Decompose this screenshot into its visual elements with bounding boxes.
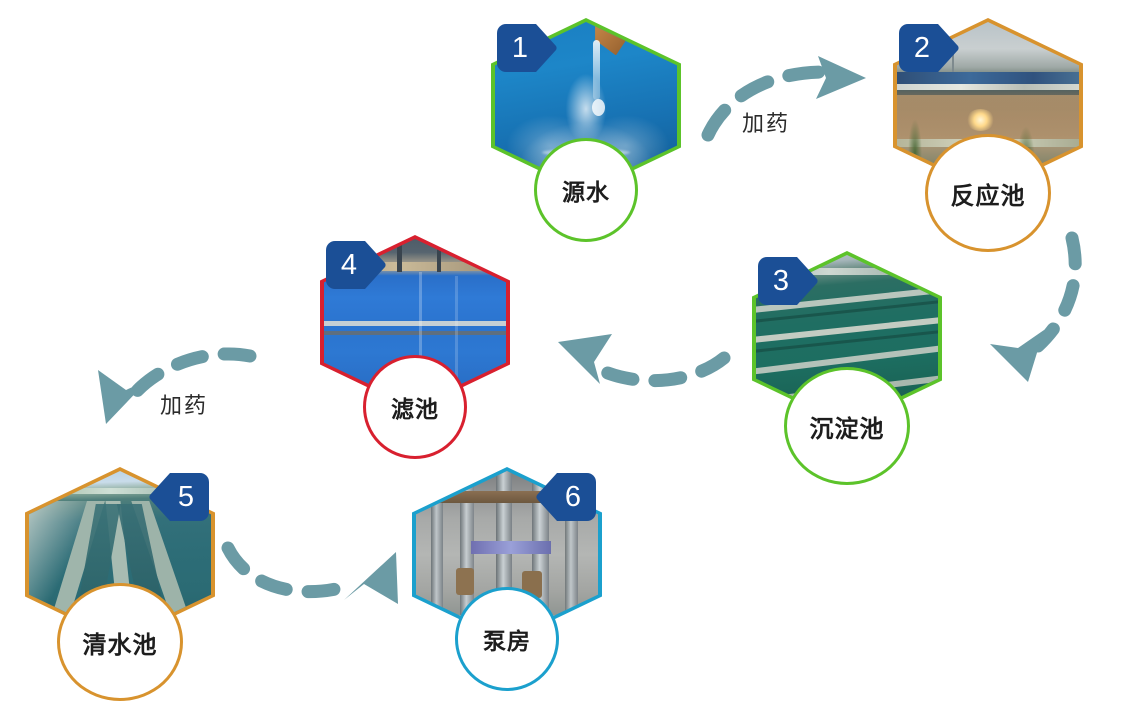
step-1-label: 源水 <box>562 173 610 207</box>
step-6-label: 泵房 <box>483 622 531 656</box>
step-1-caption: 源水 <box>534 138 638 242</box>
arrow-label-dosing-1: 加药 <box>742 106 790 138</box>
process-step-6[interactable]: 6 泵房 <box>412 467 602 703</box>
step-5-caption: 清水池 <box>57 583 183 701</box>
process-step-4[interactable]: 4 滤池 <box>320 235 510 471</box>
step-6-caption: 泵房 <box>455 587 559 691</box>
arrow-label-dosing-2: 加药 <box>160 388 208 420</box>
step-2-caption: 反应池 <box>925 134 1051 252</box>
step-3-caption: 沉淀池 <box>784 367 910 485</box>
process-step-3[interactable]: 3 沉淀池 <box>752 251 942 487</box>
process-step-5[interactable]: 5 清水池 <box>25 467 215 703</box>
process-flow-diagram: 加药 加药 1 源水 <box>0 0 1130 714</box>
step-4-number: 4 <box>325 239 373 291</box>
step-4-label: 滤池 <box>391 390 439 424</box>
step-5-number: 5 <box>162 471 210 523</box>
step-4-number-badge: 4 <box>325 239 387 291</box>
process-step-2[interactable]: 2 反应池 <box>893 18 1083 254</box>
step-5-number-badge: 5 <box>148 471 210 523</box>
step-1-number-badge: 1 <box>496 22 558 74</box>
step-1-number: 1 <box>496 22 544 74</box>
arrow-5-to-6 <box>228 548 398 604</box>
step-2-number-badge: 2 <box>898 22 960 74</box>
step-2-number: 2 <box>898 22 946 74</box>
step-5-label: 清水池 <box>83 625 158 660</box>
step-4-caption: 滤池 <box>363 355 467 459</box>
step-2-label: 反应池 <box>951 176 1026 211</box>
process-step-1[interactable]: 1 源水 <box>491 18 681 254</box>
step-3-number-badge: 3 <box>757 255 819 307</box>
step-6-number: 6 <box>549 471 597 523</box>
arrow-3-to-4 <box>558 334 724 384</box>
step-3-number: 3 <box>757 255 805 307</box>
step-3-label: 沉淀池 <box>810 409 885 444</box>
step-6-number-badge: 6 <box>535 471 597 523</box>
arrow-2-to-3 <box>990 238 1075 382</box>
